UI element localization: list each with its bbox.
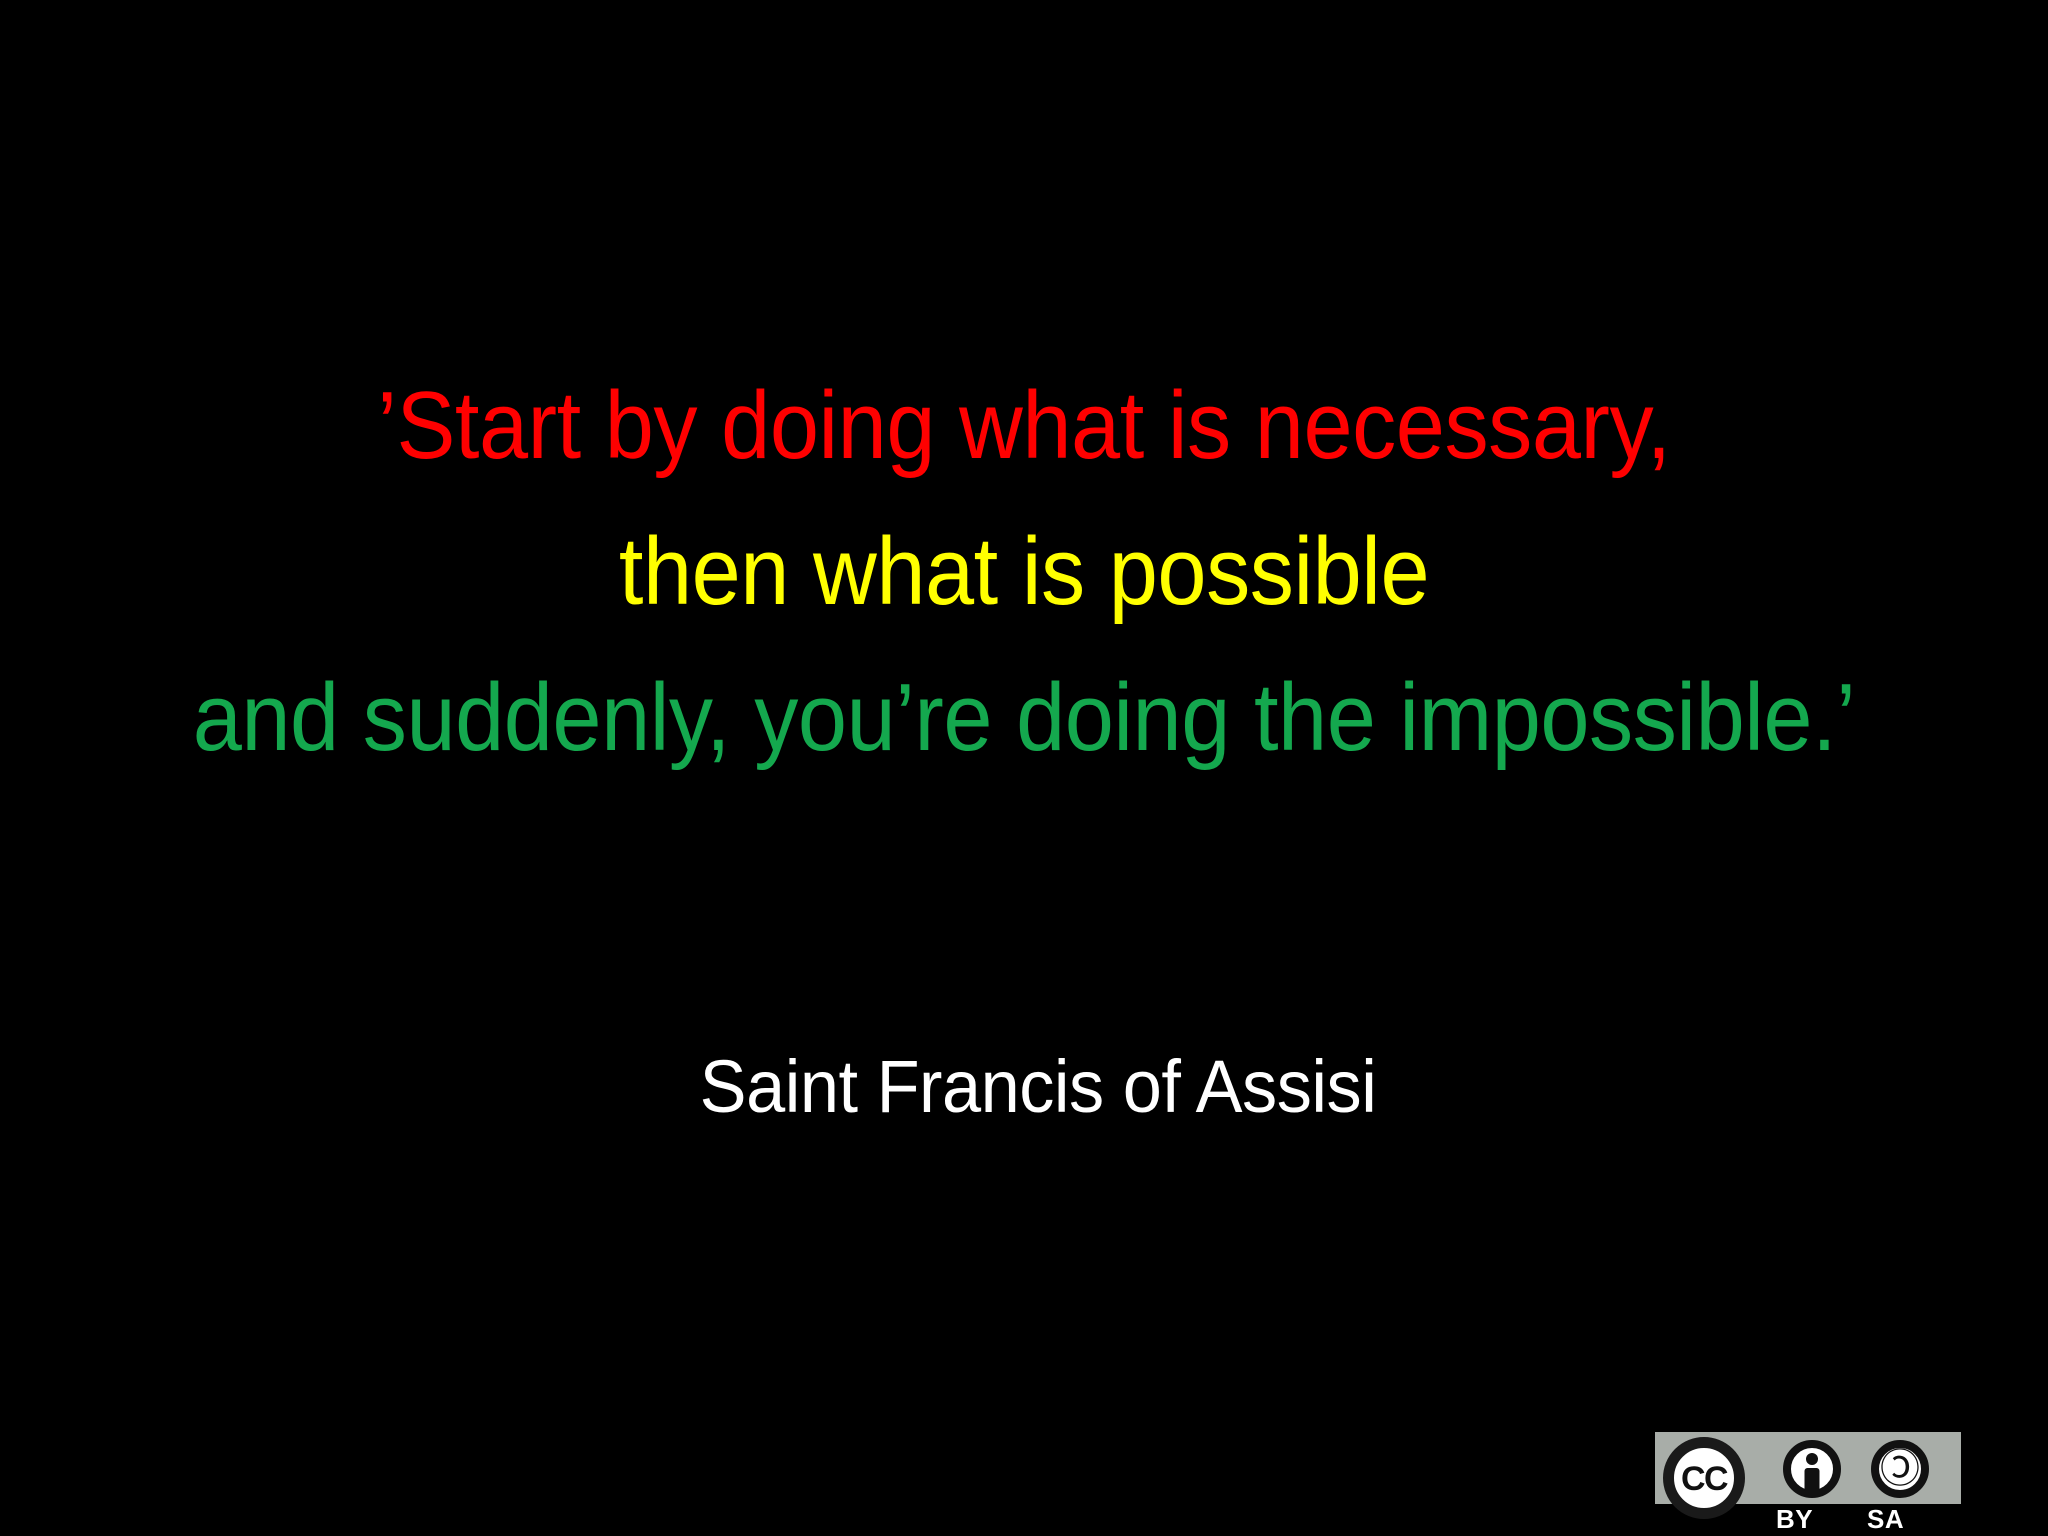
cc-logo-letters: CC [1681,1462,1727,1496]
cc-by-label: BY [1776,1506,1813,1532]
quote-attribution: Saint Francis of Assisi [65,1044,2011,1129]
quote-line-1: ’Start by doing what is necessary, [82,378,1966,474]
creative-commons-badge: CC Ⓒ BY SA [1655,1432,1961,1536]
quote-line-3: and suddenly, you’re doing the impossibl… [82,670,1966,766]
cc-sa-label: SA [1867,1506,1904,1532]
person-body-shape [1805,1468,1820,1491]
cc-sharealike-icon: Ⓒ [1871,1440,1929,1498]
quote-line-2: then what is possible [82,524,1966,620]
slide-canvas: ’Start by doing what is necessary, then … [0,0,2048,1536]
cc-attribution-person-icon [1783,1440,1841,1498]
cc-logo-icon: CC [1663,1437,1745,1519]
sharealike-glyph: Ⓒ [1880,1449,1920,1489]
quote-block: ’Start by doing what is necessary, then … [0,378,2048,766]
person-head-shape [1806,1453,1818,1465]
